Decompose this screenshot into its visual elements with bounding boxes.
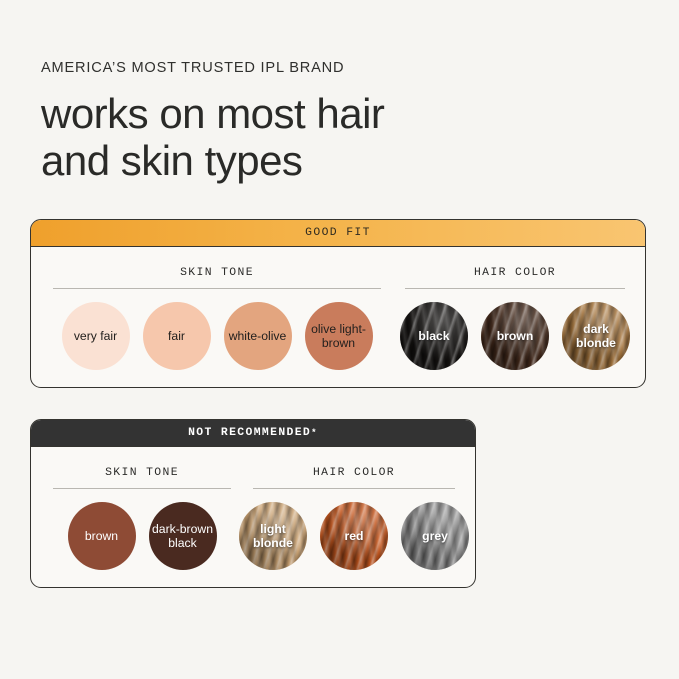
swatch-label: light blonde — [239, 522, 307, 550]
swatch-fair[interactable]: fair — [143, 302, 211, 370]
swatch-olive-light-brown[interactable]: olive light-brown — [305, 302, 373, 370]
page-title: works on most hair and skin types — [41, 90, 384, 184]
swatch-label: white-olive — [226, 329, 290, 343]
not-recommended-body: SKIN TONE brown dark-brown black HAIR CO… — [31, 447, 475, 587]
good-fit-hair-color-title: HAIR COLOR — [399, 247, 631, 279]
column-rule — [53, 488, 231, 489]
eyebrow-text: AMERICA’S MOST TRUSTED IPL BRAND — [41, 60, 344, 76]
swatch-label: brown — [494, 329, 537, 343]
swatch-dark-blonde-hair[interactable]: dark blonde — [562, 302, 630, 370]
good-fit-header: GOOD FIT — [31, 220, 645, 247]
good-fit-skin-tone-column: SKIN TONE very fair fair white-olive oli… — [47, 247, 387, 387]
column-rule — [405, 288, 625, 289]
not-recommended-card: NOT RECOMMENDED* SKIN TONE brown dark-br… — [30, 419, 476, 588]
swatch-brown-hair[interactable]: brown — [481, 302, 549, 370]
swatch-label: dark blonde — [562, 322, 630, 350]
swatch-label: dark-brown black — [149, 522, 217, 550]
column-rule — [253, 488, 455, 489]
swatch-dark-brown-black-skin[interactable]: dark-brown black — [149, 502, 217, 570]
good-fit-skin-tone-swatches: very fair fair white-olive olive light-b… — [47, 302, 387, 370]
not-recommended-hair-color-title: HAIR COLOR — [247, 447, 461, 479]
swatch-light-blonde-hair[interactable]: light blonde — [239, 502, 307, 570]
swatch-white-olive[interactable]: white-olive — [224, 302, 292, 370]
swatch-brown-skin[interactable]: brown — [68, 502, 136, 570]
not-recommended-skin-tone-title: SKIN TONE — [47, 447, 237, 479]
swatch-grey-hair[interactable]: grey — [401, 502, 469, 570]
not-recommended-hair-color-column: HAIR COLOR light blonde red — [247, 447, 461, 587]
good-fit-header-label: GOOD FIT — [305, 227, 371, 239]
not-recommended-skin-tone-swatches: brown dark-brown black — [47, 502, 237, 570]
swatch-black-hair[interactable]: black — [400, 302, 468, 370]
not-recommended-hair-color-swatches: light blonde red grey — [247, 502, 461, 570]
swatch-label: brown — [82, 529, 121, 543]
swatch-label: olive light-brown — [305, 322, 373, 350]
swatch-label: very fair — [71, 329, 120, 343]
swatch-label: black — [415, 329, 452, 343]
swatch-red-hair[interactable]: red — [320, 502, 388, 570]
swatch-label: fair — [165, 329, 188, 343]
column-rule — [53, 288, 381, 289]
good-fit-skin-tone-title: SKIN TONE — [47, 247, 387, 279]
good-fit-card: GOOD FIT SKIN TONE very fair fair white-… — [30, 219, 646, 388]
good-fit-body: SKIN TONE very fair fair white-olive oli… — [31, 247, 645, 387]
swatch-very-fair[interactable]: very fair — [62, 302, 130, 370]
not-recommended-skin-tone-column: SKIN TONE brown dark-brown black — [47, 447, 237, 587]
swatch-label: red — [342, 529, 367, 543]
not-recommended-header: NOT RECOMMENDED* — [31, 420, 475, 447]
skin-hair-compatibility-page: AMERICA’S MOST TRUSTED IPL BRAND works o… — [0, 0, 679, 679]
not-recommended-header-label: NOT RECOMMENDED — [188, 427, 311, 439]
good-fit-hair-color-swatches: black brown dark blonde — [399, 302, 631, 370]
headline-line-2: and skin types — [41, 137, 384, 184]
good-fit-hair-color-column: HAIR COLOR black brown — [399, 247, 631, 387]
swatch-label: grey — [419, 529, 451, 543]
headline-line-1: works on most hair — [41, 90, 384, 137]
